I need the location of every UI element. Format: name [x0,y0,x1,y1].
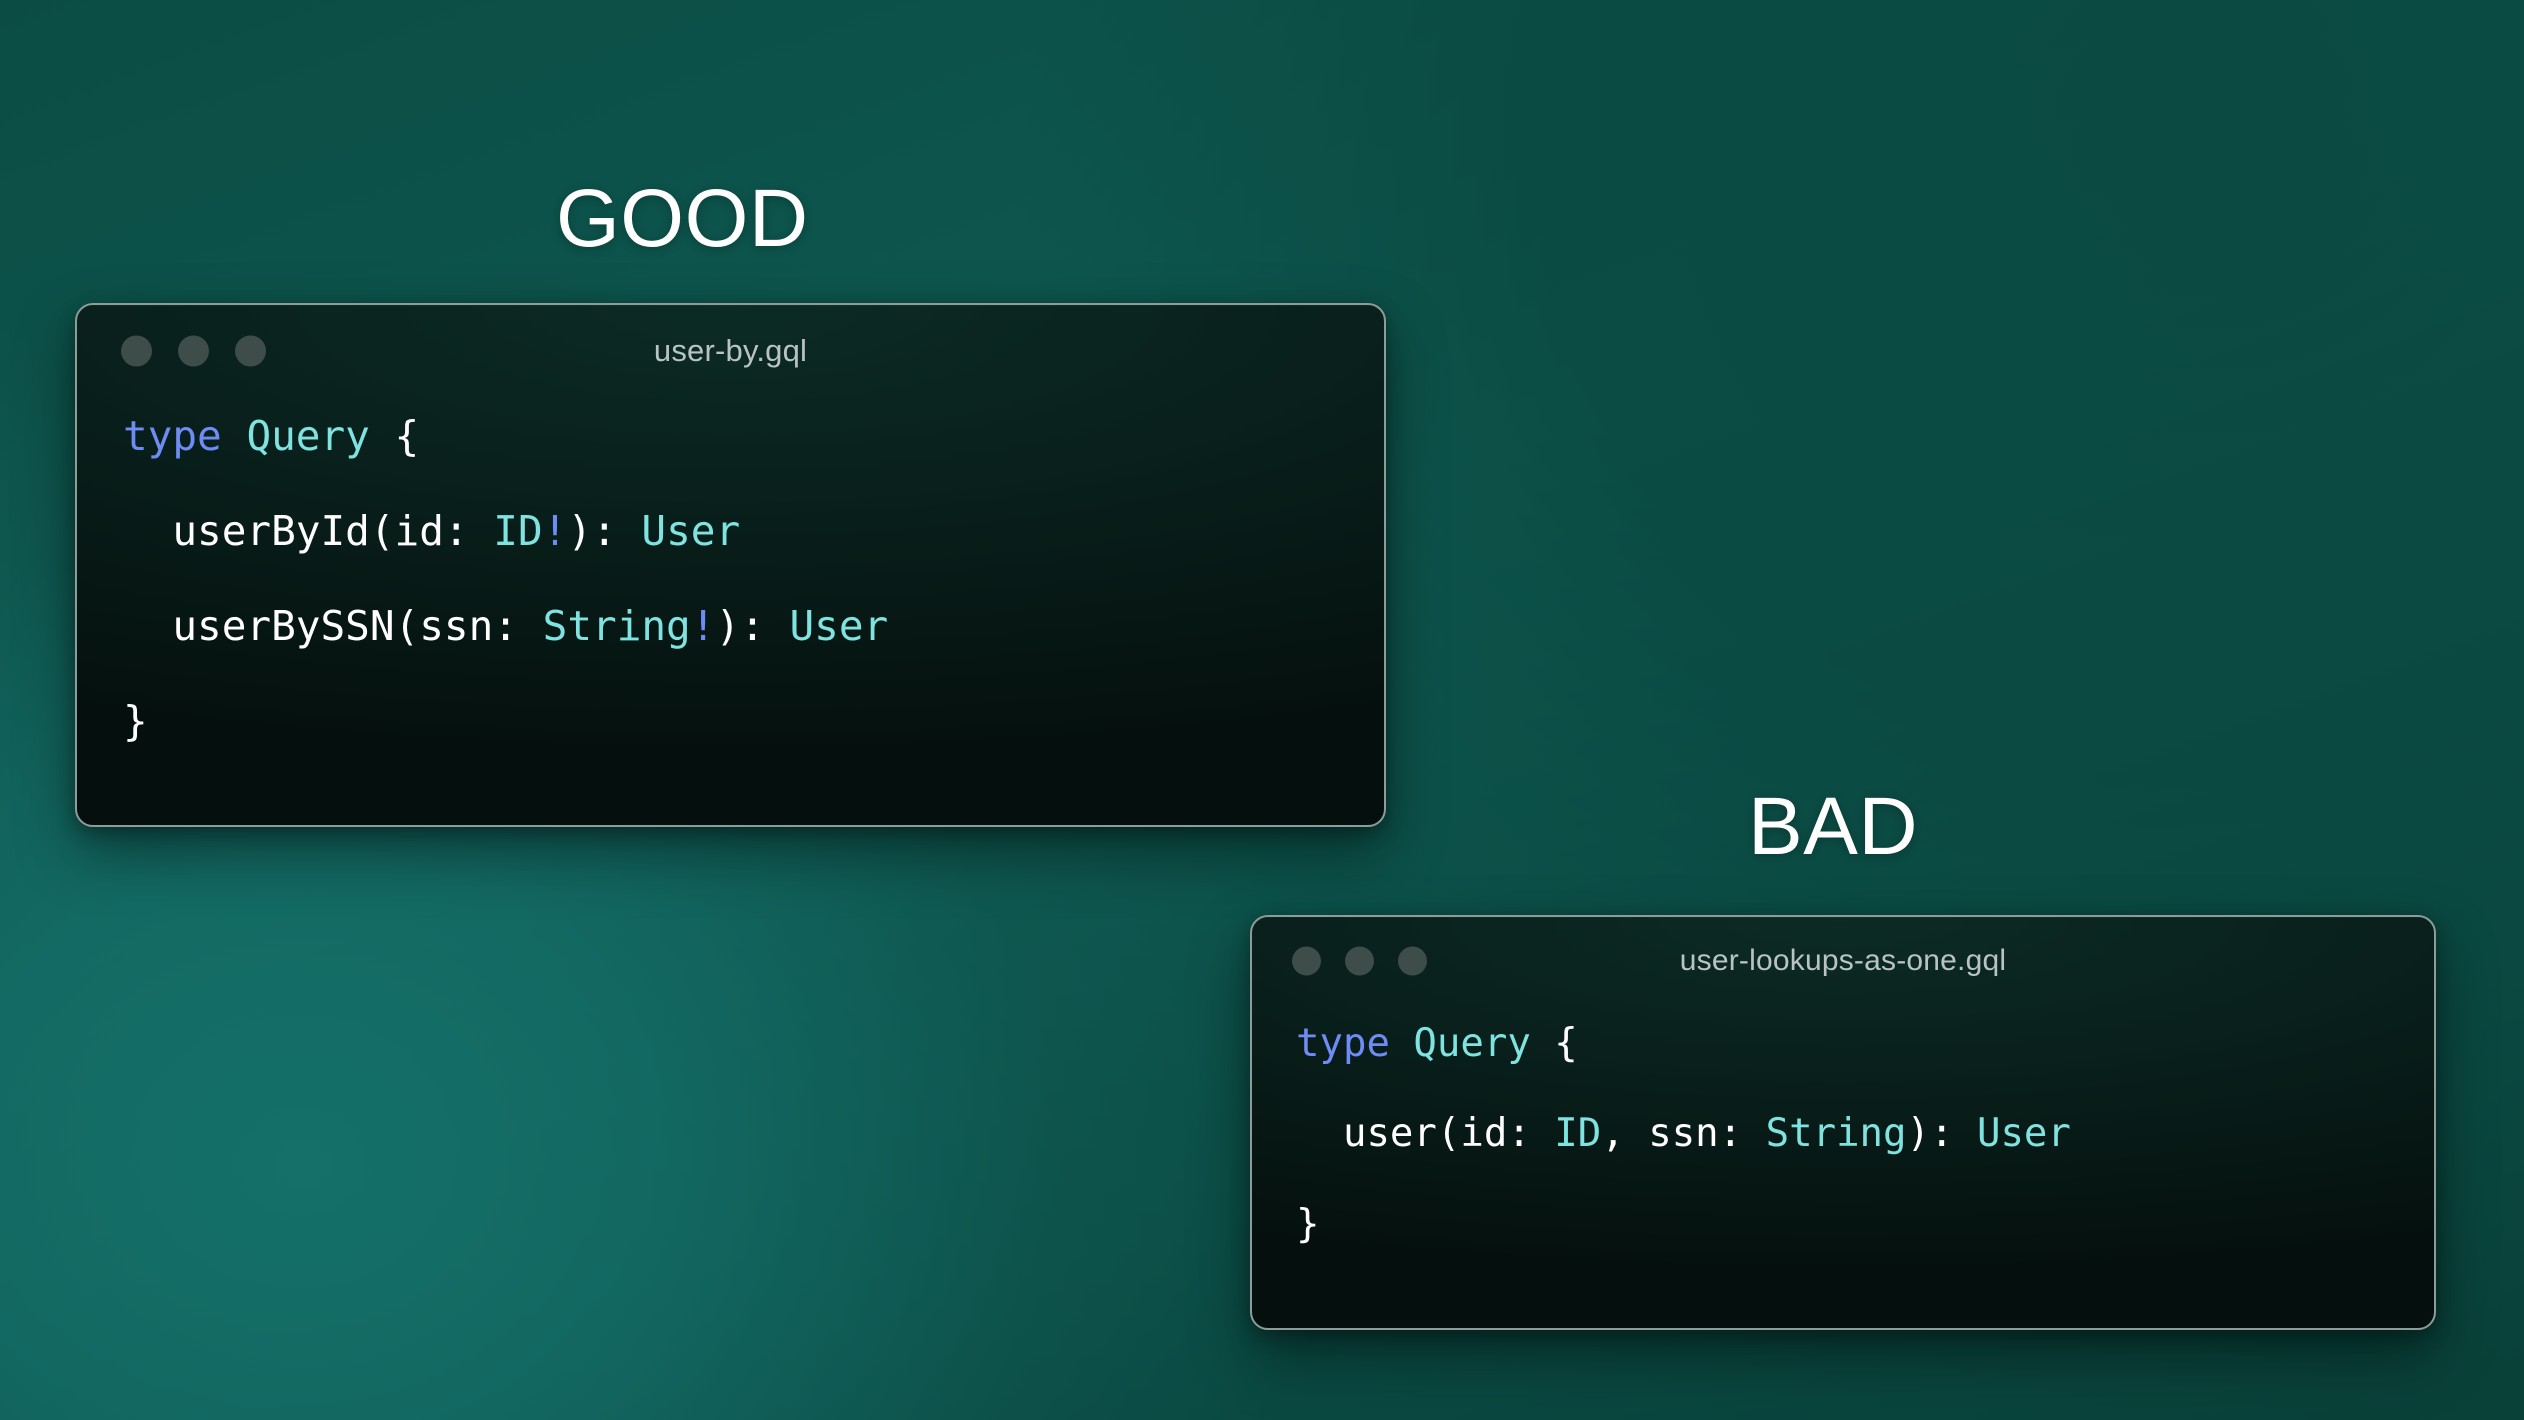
code-token-type: String [543,602,691,650]
code-line: } [1296,1202,2434,1247]
code-token-punct: } [123,697,148,745]
code-token-plain [222,412,247,460]
code-line: } [123,698,1384,746]
code-block-bad: type Query { user(id: ID, ssn: String): … [1252,1005,2434,1247]
code-token-bang: ! [691,602,716,650]
code-token-plain: ): [715,602,789,650]
minimize-dot-icon[interactable] [1345,947,1374,976]
code-token-type: User [790,602,889,650]
code-token-keyword: type [123,412,222,460]
code-line: userById(id: ID!): User [123,508,1384,556]
traffic-lights-good [121,336,266,367]
code-window-good: user-by.gql type Query { userById(id: ID… [75,303,1386,827]
code-line: user(id: ID, ssn: String): User [1296,1111,2434,1156]
minimize-dot-icon[interactable] [178,336,209,367]
code-token-plain [370,412,395,460]
code-token-type: User [641,507,740,555]
traffic-lights-bad [1292,947,1427,976]
maximize-dot-icon[interactable] [1398,947,1427,976]
code-token-bang: ! [543,507,568,555]
window-titlebar-good: user-by.gql [77,305,1384,397]
code-window-bad: user-lookups-as-one.gql type Query { use… [1250,915,2436,1330]
code-token-type: ID [493,507,542,555]
label-good: GOOD [556,178,809,260]
code-token-type: User [1977,1111,2071,1156]
close-dot-icon[interactable] [1292,947,1321,976]
code-token-punct: } [1296,1202,1319,1247]
code-line: userBySSN(ssn: String!): User [123,603,1384,651]
code-token-plain [1531,1021,1554,1066]
slide-canvas: GOOD user-by.gql type Query { userById(i… [0,0,2524,1420]
code-token-plain: userById(id: [123,507,493,555]
code-token-type: Query [246,412,369,460]
code-block-good: type Query { userById(id: ID!): User use… [77,397,1384,746]
code-token-plain [1390,1021,1413,1066]
label-bad: BAD [1748,786,1918,868]
code-token-punct: { [1554,1021,1577,1066]
window-filename-good: user-by.gql [77,333,1384,369]
code-token-type: String [1766,1111,1907,1156]
close-dot-icon[interactable] [121,336,152,367]
code-token-plain: , ssn: [1601,1111,1765,1156]
code-token-type: Query [1413,1021,1530,1066]
maximize-dot-icon[interactable] [235,336,266,367]
code-token-plain: userBySSN(ssn: [123,602,543,650]
code-token-plain: user(id: [1296,1111,1554,1156]
code-token-type: ID [1554,1111,1601,1156]
code-token-keyword: type [1296,1021,1390,1066]
code-token-plain: ): [567,507,641,555]
code-token-plain: ): [1907,1111,1977,1156]
code-line: type Query { [1296,1021,2434,1066]
window-filename-bad: user-lookups-as-one.gql [1252,944,2434,978]
code-token-punct: { [395,412,420,460]
window-titlebar-bad: user-lookups-as-one.gql [1252,917,2434,1005]
code-line: type Query { [123,413,1384,461]
